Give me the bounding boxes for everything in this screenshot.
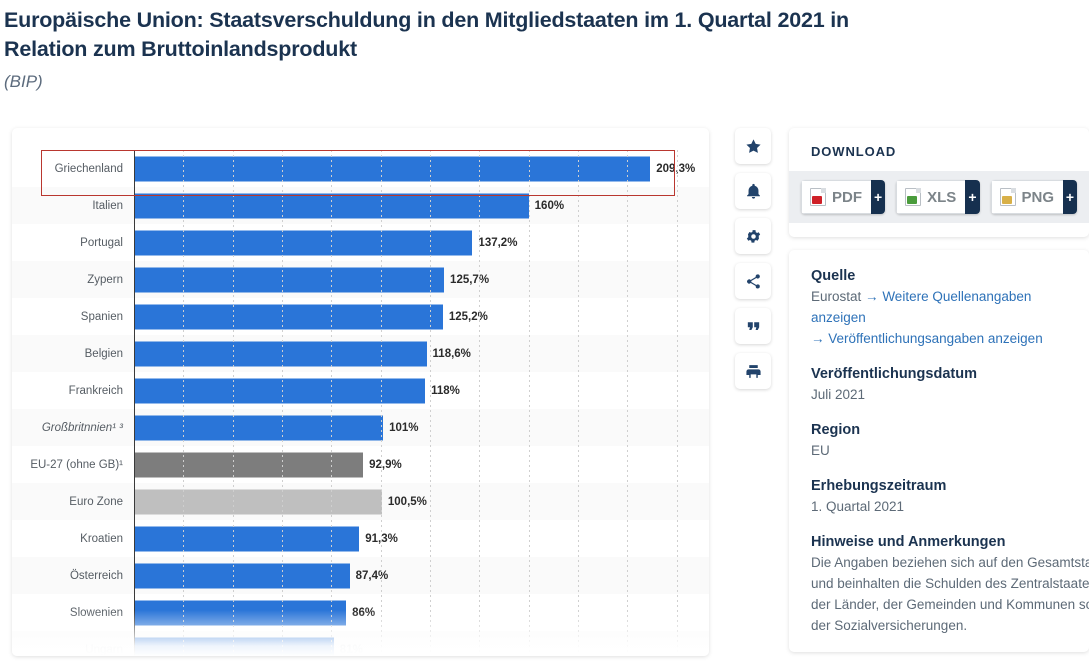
chart-gridline xyxy=(627,150,628,656)
source-value-line: Eurostat → Weitere Quellenangaben anzeig… xyxy=(811,286,1067,328)
chart-gridline xyxy=(331,150,332,656)
page-title-line-2: Relation zum Bruttoinlandsprodukt xyxy=(4,35,1079,64)
pubdate-value: Juli 2021 xyxy=(811,384,1067,405)
chart-bar[interactable] xyxy=(134,600,346,625)
chart-card: Griechenland209,3%Italien160%Portugal137… xyxy=(12,128,709,656)
chart-bar-area: 118,6% xyxy=(134,335,709,372)
chart-bar-area: 137,2% xyxy=(134,224,709,261)
notes-line-1: Die Angaben beziehen sich auf den Gesamt… xyxy=(811,555,1089,570)
page-title-line-1: Europäische Union: Staatsverschuldung in… xyxy=(4,6,1079,35)
chart-row-label: Griechenland xyxy=(12,163,134,175)
chart-bar-value: 87,4% xyxy=(350,570,389,582)
chart-gridline xyxy=(529,150,530,656)
notes-line-3: der Länder, der Gemeinden und Kommunen s… xyxy=(811,597,1089,612)
share-icon-button[interactable] xyxy=(735,263,771,299)
chart-bar-value: 118,6% xyxy=(427,348,471,360)
chart-row-label: EU-27 (ohne GB)¹ xyxy=(12,459,134,471)
chart-row[interactable]: Slowenien86% xyxy=(12,594,709,631)
chart-row[interactable]: Euro Zone100,5% xyxy=(12,483,709,520)
chart-row[interactable]: Italien160% xyxy=(12,187,709,224)
chart-bar[interactable] xyxy=(134,230,472,255)
action-icon-rail xyxy=(735,128,771,389)
chart-bar-value: 100,5% xyxy=(382,496,427,508)
chart-bar-value: 91,3% xyxy=(359,533,398,545)
chart-bar-area: 87,4% xyxy=(134,557,709,594)
chart-gridline xyxy=(233,150,234,656)
chart-bar-value: 125,2% xyxy=(443,311,488,323)
chart-row-label: Zypern xyxy=(12,274,134,286)
chart-bar-area: 101% xyxy=(134,409,709,446)
download-xls-expand[interactable]: + xyxy=(965,180,979,214)
pdf-file-icon-mark xyxy=(812,196,822,204)
chart-row-label: Italien xyxy=(12,200,134,212)
favorite-icon xyxy=(745,138,762,155)
chart-bar-value: 81% xyxy=(334,644,363,656)
sidebar: DOWNLOAD PDF+XLS+PNG+ Quelle Eurostat → … xyxy=(789,128,1089,665)
chart-row-label: Portugal xyxy=(12,237,134,249)
chart-bar-area: 81% xyxy=(134,631,709,656)
arrow-icon: → xyxy=(865,289,879,304)
chart-row-label: Österreich xyxy=(12,570,134,582)
gear-icon xyxy=(745,228,762,245)
chart-gridline xyxy=(282,150,283,656)
download-xls-button[interactable]: XLS+ xyxy=(896,180,979,214)
favorite-icon-button[interactable] xyxy=(735,128,771,164)
chart-row[interactable]: Portugal137,2% xyxy=(12,224,709,261)
chart-bar-area: 91,3% xyxy=(134,520,709,557)
chart-bar[interactable] xyxy=(134,526,359,551)
publication-details-link[interactable]: Veröffentlichungsangaben anzeigen xyxy=(828,331,1042,346)
chart-bar[interactable] xyxy=(134,452,363,477)
arrow-icon-2: → xyxy=(811,331,825,346)
chart-gridline xyxy=(677,150,678,656)
notify-icon-button[interactable] xyxy=(735,173,771,209)
chart-row-label: Kroatien xyxy=(12,533,134,545)
download-png-expand[interactable]: + xyxy=(1063,180,1077,214)
chart-gridline xyxy=(578,150,579,656)
chart-bar-value: 160% xyxy=(529,200,564,212)
chart-bar-area: 92,9% xyxy=(134,446,709,483)
chart-bar-area: 118% xyxy=(134,372,709,409)
chart-bar[interactable] xyxy=(134,341,427,366)
chart-row[interactable]: Österreich87,4% xyxy=(12,557,709,594)
chart-row-label: Belgien xyxy=(12,348,134,360)
chart-row-label: Großbritnnien¹ ³ xyxy=(12,422,134,434)
bar-chart[interactable]: Griechenland209,3%Italien160%Portugal137… xyxy=(12,128,709,656)
xls-file-icon-mark xyxy=(907,196,917,204)
notes-heading: Hinweise und Anmerkungen xyxy=(811,534,1067,550)
chart-gridline xyxy=(430,150,431,656)
pubdate-heading: Veröffentlichungsdatum xyxy=(811,366,1067,382)
page-header: Europäische Union: Staatsverschuldung in… xyxy=(0,0,1089,92)
download-buttons: PDF+XLS+PNG+ xyxy=(789,171,1089,223)
publication-link-line: → Veröffentlichungsangaben anzeigen xyxy=(811,328,1067,349)
chart-bar-area: 100,5% xyxy=(134,483,709,520)
notes-body: Die Angaben beziehen sich auf den Gesamt… xyxy=(811,552,1067,636)
xls-file-icon xyxy=(905,188,921,206)
chart-axis-line xyxy=(134,150,135,656)
download-heading: DOWNLOAD xyxy=(789,144,1089,159)
chart-row[interactable]: Frankreich118% xyxy=(12,372,709,409)
chart-row-label: Ungarn xyxy=(12,644,134,656)
chart-bar[interactable] xyxy=(134,304,443,329)
download-pdf-main[interactable]: PDF xyxy=(801,180,871,214)
chart-bar-area: 160% xyxy=(134,187,709,224)
download-png-button[interactable]: PNG+ xyxy=(991,180,1077,214)
bell-icon xyxy=(745,183,762,200)
chart-gridline xyxy=(381,150,382,656)
share-icon xyxy=(745,273,762,290)
chart-bar-value: 209,3% xyxy=(650,163,695,175)
chart-rows: Griechenland209,3%Italien160%Portugal137… xyxy=(12,150,709,656)
content-area: Griechenland209,3%Italien160%Portugal137… xyxy=(0,118,1089,658)
chart-bar[interactable] xyxy=(134,156,650,181)
chart-row[interactable]: Griechenland209,3% xyxy=(12,150,709,187)
chart-row-label: Frankreich xyxy=(12,385,134,397)
chart-row-label: Euro Zone xyxy=(12,496,134,508)
chart-gridline xyxy=(183,150,184,656)
chart-bar-area: 125,7% xyxy=(134,261,709,298)
download-png-main[interactable]: PNG xyxy=(991,180,1064,214)
chart-bar-value: 101% xyxy=(383,422,418,434)
period-heading: Erhebungszeitraum xyxy=(811,478,1067,494)
chart-row[interactable]: Großbritnnien¹ ³101% xyxy=(12,409,709,446)
chart-bar[interactable] xyxy=(134,637,334,656)
download-png-label: PNG xyxy=(1022,189,1055,206)
chart-bar[interactable] xyxy=(134,563,350,588)
settings-icon-button[interactable] xyxy=(735,218,771,254)
notes-line-4: der Sozialversicherungen. xyxy=(811,618,967,633)
chart-bar-area: 86% xyxy=(134,594,709,631)
chart-bar[interactable] xyxy=(134,267,444,292)
chart-row-label: Spanien xyxy=(12,311,134,323)
download-card: DOWNLOAD PDF+XLS+PNG+ xyxy=(789,128,1089,237)
source-value: Eurostat xyxy=(811,289,861,304)
chart-bar[interactable] xyxy=(134,489,382,514)
chart-row[interactable]: Belgien118,6% xyxy=(12,335,709,372)
chart-row-label: Slowenien xyxy=(12,607,134,619)
region-heading: Region xyxy=(811,422,1067,438)
chart-row[interactable]: EU-27 (ohne GB)¹92,9% xyxy=(12,446,709,483)
chart-gridline xyxy=(479,150,480,656)
page-subtitle: (BIP) xyxy=(4,72,1079,92)
png-file-icon-mark xyxy=(1002,196,1012,204)
chart-row[interactable]: Ungarn81% xyxy=(12,631,709,656)
print-icon xyxy=(745,363,762,380)
chart-row[interactable]: Zypern125,7% xyxy=(12,261,709,298)
chart-bar-area: 209,3% xyxy=(134,150,709,187)
region-value: EU xyxy=(811,440,1067,461)
chart-bar[interactable] xyxy=(134,415,383,440)
metadata-card: Quelle Eurostat → Weitere Quellenangaben… xyxy=(789,250,1089,652)
chart-row[interactable]: Spanien125,2% xyxy=(12,298,709,335)
quote-icon xyxy=(745,318,762,335)
download-pdf-button[interactable]: PDF+ xyxy=(801,180,885,214)
source-heading: Quelle xyxy=(811,268,1067,284)
download-pdf-expand[interactable]: + xyxy=(871,180,885,214)
notes-line-2: und beinhalten die Schulden des Zentrals… xyxy=(811,576,1089,591)
png-file-icon xyxy=(1000,188,1016,206)
chart-bar-value: 86% xyxy=(346,607,375,619)
cite-icon-button[interactable] xyxy=(735,308,771,344)
chart-bar-area: 125,2% xyxy=(134,298,709,335)
chart-row[interactable]: Kroatien91,3% xyxy=(12,520,709,557)
chart-bar-value: 92,9% xyxy=(363,459,402,471)
chart-bar-value: 125,7% xyxy=(444,274,489,286)
download-xls-label: XLS xyxy=(927,189,956,206)
period-value: 1. Quartal 2021 xyxy=(811,496,1067,517)
pdf-file-icon xyxy=(810,188,826,206)
page-title: Europäische Union: Staatsverschuldung in… xyxy=(4,6,1079,64)
download-xls-main[interactable]: XLS xyxy=(896,180,965,214)
download-pdf-label: PDF xyxy=(832,189,862,206)
print-icon-button[interactable] xyxy=(735,353,771,389)
